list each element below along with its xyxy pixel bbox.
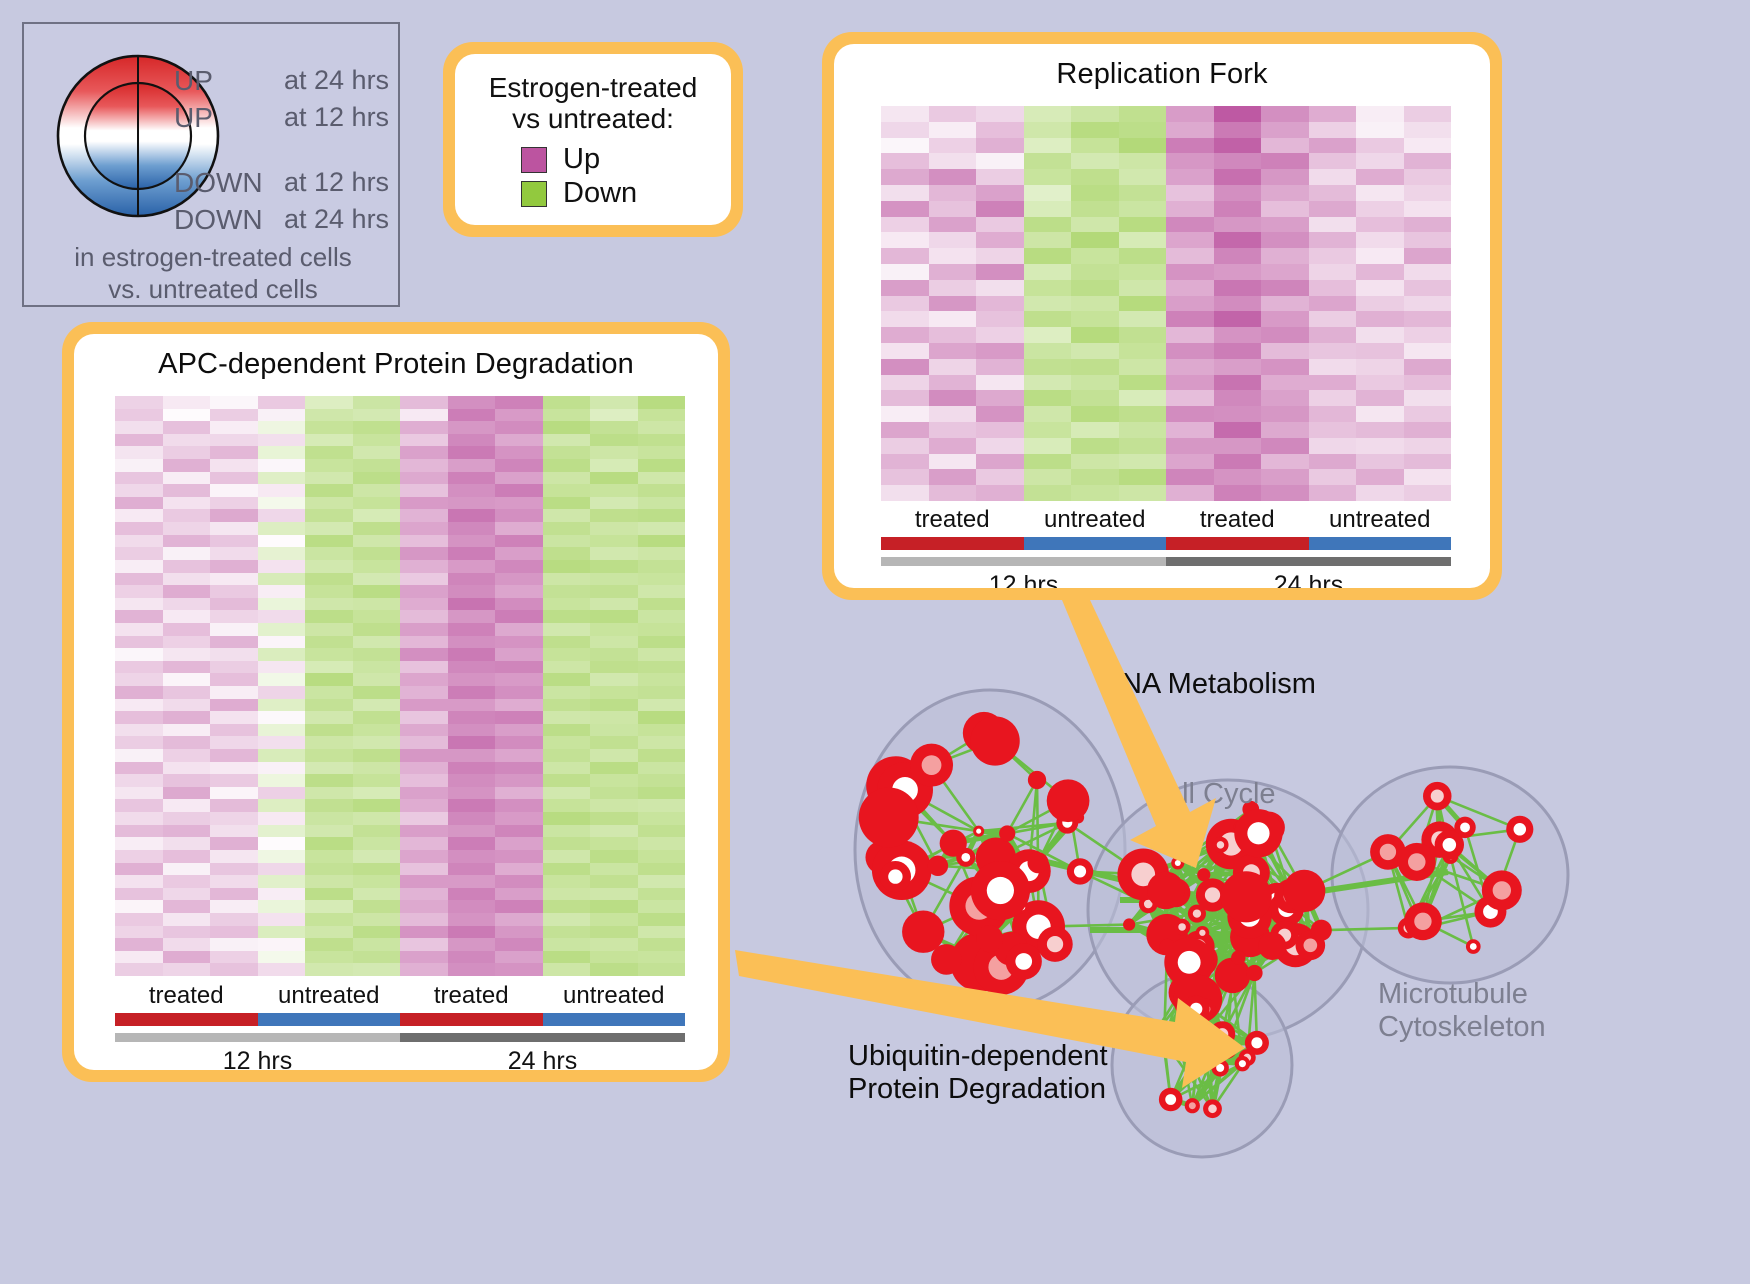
heatmap-cell: [543, 421, 591, 434]
down-label: Down: [563, 177, 637, 210]
heatmap-cell: [638, 837, 686, 850]
heatmap-cell: [1119, 390, 1167, 406]
cluster-label-ubiquitin-degradation: Ubiquitin-dependent Protein Degradation: [848, 1040, 1108, 1107]
heatmap-cell: [543, 686, 591, 699]
up-swatch-icon: [521, 147, 547, 173]
heatmap-cell: [448, 837, 496, 850]
heatmap-cell: [881, 438, 929, 454]
heatmap-cell: [353, 900, 401, 913]
heatmap-cell: [638, 749, 686, 762]
heatmap-cell: [929, 390, 977, 406]
heatmap-cell: [1309, 153, 1357, 169]
heatmap-cell: [543, 799, 591, 812]
heatmap-cell: [163, 434, 211, 447]
heatmap-cell: [543, 673, 591, 686]
heatmap-cell: [1166, 454, 1214, 470]
heatmap-cell: [495, 648, 543, 661]
heatmap-cell: [881, 122, 929, 138]
heatmap-cell: [353, 648, 401, 661]
heatmap-cell: [115, 484, 163, 497]
heatmap-cell: [1214, 390, 1262, 406]
network-node[interactable]: [999, 825, 1015, 841]
network-node[interactable]: [1221, 871, 1272, 922]
heatmap-cell: [1309, 248, 1357, 264]
heatmap-cell: [976, 248, 1024, 264]
heatmap-cell: [590, 610, 638, 623]
heatmap-cell: [1404, 375, 1452, 391]
heatmap-cell: [305, 547, 353, 560]
heatmap-cell: [495, 610, 543, 623]
heatmap-cell: [305, 724, 353, 737]
heatmap-cell: [1261, 201, 1309, 217]
heatmap-cell: [163, 850, 211, 863]
heatmap-cell: [1166, 248, 1214, 264]
heatmap-cell: [305, 736, 353, 749]
heatmap-cell: [543, 900, 591, 913]
network-node[interactable]: [976, 925, 1003, 952]
heatmap-cell: [115, 472, 163, 485]
heatmap-cell: [305, 799, 353, 812]
heatmap-cell: [305, 774, 353, 787]
heatmap-cell: [305, 396, 353, 409]
cluster-label-microtubule-cytoskeleton: Microtubule Cytoskeleton: [1378, 978, 1546, 1045]
heatmap-cell: [448, 825, 496, 838]
heatmap-cell: [1356, 375, 1404, 391]
heatmap-cell: [881, 406, 929, 422]
heatmap-cell: [400, 787, 448, 800]
heatmap-cell: [1024, 280, 1072, 296]
heatmap-cell: [353, 787, 401, 800]
heatmap-cell: [448, 484, 496, 497]
heatmap-cell: [1024, 201, 1072, 217]
heatmap-cell: [400, 900, 448, 913]
heatmap-cell: [400, 762, 448, 775]
heatmap-cell: [163, 573, 211, 586]
network-node-core: [1174, 1028, 1182, 1036]
heatmap-cell: [210, 547, 258, 560]
updown-key-row-down: Down: [521, 177, 731, 211]
heatmap-cell: [1024, 106, 1072, 122]
heatmap-cell: [638, 875, 686, 888]
heatmap-cell: [305, 825, 353, 838]
heatmap-cell: [543, 484, 591, 497]
heatmap-cell: [163, 774, 211, 787]
heatmap-cell: [590, 547, 638, 560]
heatmap-cell: [400, 573, 448, 586]
heatmap-cell: [448, 636, 496, 649]
heatmap-cell: [163, 446, 211, 459]
heatmap-cell: [1356, 438, 1404, 454]
heatmap-cell: [929, 406, 977, 422]
heatmap-cell: [115, 636, 163, 649]
heatmap-cell: [1214, 201, 1262, 217]
network-node-core: [1194, 1056, 1201, 1063]
heatmap-cell: [115, 421, 163, 434]
heatmap-cell: [353, 938, 401, 951]
heatmap-cell: [638, 888, 686, 901]
heatmap-cell: [115, 875, 163, 888]
heatmap-cell: [1261, 122, 1309, 138]
condition-label: untreated: [1309, 506, 1452, 534]
heatmap-cell: [400, 535, 448, 548]
heatmap-cell: [1166, 327, 1214, 343]
heatmap-cell: [1356, 153, 1404, 169]
heatmap-cell: [210, 573, 258, 586]
heatmap-cell: [400, 421, 448, 434]
heatmap-cell: [976, 153, 1024, 169]
heatmap-cell: [1356, 185, 1404, 201]
heatmap-cell: [258, 484, 306, 497]
heatmap-cell: [305, 522, 353, 535]
heatmap-cell: [210, 736, 258, 749]
heatmap-cell: [881, 248, 929, 264]
network-node-core: [1189, 1102, 1196, 1109]
heatmap-cell: [353, 686, 401, 699]
heatmap-cell: [495, 850, 543, 863]
heatmap-cell: [115, 509, 163, 522]
heatmap-cell: [163, 699, 211, 712]
heatmap-cell: [353, 711, 401, 724]
heatmap-cell: [1309, 406, 1357, 422]
heatmap-cell: [881, 217, 929, 233]
heatmap-cell: [1404, 469, 1452, 485]
heatmap-cell: [448, 421, 496, 434]
heatmap-cell: [210, 421, 258, 434]
heatmap-cell: [543, 888, 591, 901]
heatmap-cell: [929, 138, 977, 154]
heatmap-cell: [210, 888, 258, 901]
heatmap-cell: [258, 938, 306, 951]
heatmap-cell: [495, 799, 543, 812]
network-node[interactable]: [931, 944, 962, 975]
heatmap-cell: [1404, 390, 1452, 406]
heatmap-cell: [1404, 454, 1452, 470]
network-node[interactable]: [1283, 870, 1325, 912]
heatmap-cell: [590, 749, 638, 762]
heatmap-cell: [448, 774, 496, 787]
network-node-core: [1190, 1003, 1202, 1015]
heatmap-cell: [638, 636, 686, 649]
heatmap-cell: [1166, 375, 1214, 391]
heatmap-cell: [258, 699, 306, 712]
heatmap-cell: [258, 560, 306, 573]
network-node-core: [1251, 1037, 1262, 1048]
heatmap-cell: [638, 648, 686, 661]
heatmap-cell: [400, 636, 448, 649]
network-node[interactable]: [970, 716, 1019, 765]
heatmap-cell: [638, 446, 686, 459]
heatmap-cell: [353, 409, 401, 422]
heatmap-cell: [590, 673, 638, 686]
heatmap-cell: [1309, 122, 1357, 138]
network-node[interactable]: [1215, 958, 1251, 994]
heatmap-cell: [353, 749, 401, 762]
heatmap-cell: [305, 963, 353, 976]
heatmap-cell: [305, 673, 353, 686]
heatmap-cell: [163, 484, 211, 497]
heatmap-cell: [1166, 469, 1214, 485]
heatmap-cell: [1166, 280, 1214, 296]
network-node-core: [1199, 930, 1205, 936]
heatmap-cell: [638, 421, 686, 434]
heatmap-cell: [258, 724, 306, 737]
heatmap-cell: [1214, 311, 1262, 327]
heatmap-cell: [163, 900, 211, 913]
heatmap-cell: [590, 863, 638, 876]
condition-label: untreated: [258, 982, 401, 1010]
heatmap-cell: [1309, 232, 1357, 248]
heatmap-cell: [1261, 343, 1309, 359]
heatmap-cell: [115, 598, 163, 611]
heatmap-cell: [448, 560, 496, 573]
heatmap-cell: [590, 484, 638, 497]
colormap-legend-labels: UP at 24 hrs UP at 12 hrs DOWN at 12 hrs…: [174, 62, 404, 238]
heatmap-cell: [305, 938, 353, 951]
heatmap-cell: [115, 913, 163, 926]
heatmap-cell: [400, 963, 448, 976]
heatmap-cell: [1024, 296, 1072, 312]
heatmap-cell: [1166, 217, 1214, 233]
heatmap-cell: [1024, 311, 1072, 327]
heatmap-cell: [590, 648, 638, 661]
heatmap-cell: [400, 484, 448, 497]
heatmap-cell: [163, 762, 211, 775]
heatmap-cell: [163, 711, 211, 724]
heatmap-cell: [976, 422, 1024, 438]
heatmap-cell: [210, 484, 258, 497]
heatmap-cell: [115, 409, 163, 422]
heatmap-cell: [210, 774, 258, 787]
heatmap-cell: [448, 610, 496, 623]
timepoint-label: 24 hrs: [1166, 571, 1451, 588]
heatmap-cell: [210, 673, 258, 686]
network-node[interactable]: [1028, 771, 1046, 789]
heatmap-cell: [543, 762, 591, 775]
heatmap-cell: [305, 497, 353, 510]
heatmap-cell: [1024, 422, 1072, 438]
microtubule-line1: Microtubule: [1378, 978, 1546, 1011]
heatmap-cell: [638, 787, 686, 800]
cluster-label-dna-metabolism: DNA Metabolism: [1100, 668, 1316, 701]
heatmap-cell: [1214, 375, 1262, 391]
heatmap-cell: [400, 446, 448, 459]
heatmap-cell: [1166, 422, 1214, 438]
network-node-core: [1192, 1035, 1204, 1047]
heatmap-cell: [1356, 390, 1404, 406]
heatmap-cell: [258, 888, 306, 901]
heatmap-cell: [305, 598, 353, 611]
heatmap-cell: [353, 623, 401, 636]
cluster-label-cell-cycle: Cell Cycle: [1145, 778, 1276, 811]
network-node-core: [1208, 1104, 1217, 1113]
heatmap-cell: [1356, 138, 1404, 154]
heatmap-cell: [1404, 153, 1452, 169]
network-node[interactable]: [1258, 932, 1286, 960]
heatmap-cell: [448, 573, 496, 586]
colormap-legend-row: UP at 24 hrs: [174, 62, 404, 99]
heatmap-cell: [1261, 422, 1309, 438]
heatmap-cell: [495, 560, 543, 573]
heatmap-cell: [163, 799, 211, 812]
heatmap-cell: [881, 169, 929, 185]
network-node[interactable]: [1216, 1037, 1238, 1059]
heatmap-cell: [448, 598, 496, 611]
heatmap-cell: [495, 459, 543, 472]
heatmap-cell: [881, 201, 929, 217]
heatmap-cell: [495, 598, 543, 611]
heatmap-cell: [1261, 185, 1309, 201]
heatmap-cell: [1356, 454, 1404, 470]
heatmap-cell: [1119, 280, 1167, 296]
heatmap-cell: [1309, 327, 1357, 343]
heatmap-cell: [1119, 375, 1167, 391]
heatmap-cell: [590, 888, 638, 901]
network-node[interactable]: [1147, 872, 1185, 910]
heatmap-cell: [400, 724, 448, 737]
heatmap-cell: [210, 446, 258, 459]
heatmap-cell: [976, 438, 1024, 454]
heatmap-cell: [543, 825, 591, 838]
heatmap-cell: [976, 217, 1024, 233]
heatmap-cell: [976, 106, 1024, 122]
heatmap-cell: [353, 888, 401, 901]
network-node-core: [1047, 936, 1063, 952]
heatmap-cell: [590, 837, 638, 850]
heatmap-cell: [495, 434, 543, 447]
heatmap-cell: [1309, 185, 1357, 201]
heatmap-cell: [305, 686, 353, 699]
heatmap-cell: [543, 699, 591, 712]
heatmap-cell: [210, 812, 258, 825]
heatmap-cell: [590, 409, 638, 422]
heatmap-cell: [1071, 469, 1119, 485]
heatmap-cell: [305, 434, 353, 447]
heatmap-cell: [543, 736, 591, 749]
heatmap-cell: [590, 472, 638, 485]
heatmap-cell: [258, 799, 306, 812]
heatmap-cell: [210, 610, 258, 623]
condition-labels: treated untreated treated untreated: [115, 982, 685, 1010]
network-node-core: [976, 829, 981, 834]
network-node[interactable]: [1246, 965, 1262, 981]
heatmap-cell: [1119, 232, 1167, 248]
heatmap-cell: [305, 762, 353, 775]
heatmap-cell: [1166, 153, 1214, 169]
heatmap-cell: [305, 573, 353, 586]
heatmap-cell: [976, 169, 1024, 185]
replication-fork-panel-inner: Replication Fork treated untreated treat…: [834, 44, 1490, 588]
heatmap-cell: [163, 623, 211, 636]
heatmap-cell: [1119, 327, 1167, 343]
heatmap-cell: [590, 421, 638, 434]
heatmap-cell: [210, 396, 258, 409]
heatmap-cell: [1071, 232, 1119, 248]
heatmap-cell: [1214, 264, 1262, 280]
heatmap-cell: [495, 736, 543, 749]
heatmap-cell: [1214, 343, 1262, 359]
heatmap-cell: [1356, 359, 1404, 375]
heatmap-cell: [1261, 485, 1309, 501]
network-node[interactable]: [1047, 779, 1090, 822]
network-node[interactable]: [1197, 868, 1210, 881]
heatmap-cell: [929, 311, 977, 327]
heatmap-cell: [1119, 469, 1167, 485]
heatmap-cell: [210, 787, 258, 800]
network-node[interactable]: [1123, 918, 1135, 930]
heatmap-cell: [590, 686, 638, 699]
network-node[interactable]: [859, 787, 919, 847]
heatmap-cell: [1119, 359, 1167, 375]
heatmap-cell: [1214, 280, 1262, 296]
network-node-core: [1443, 838, 1457, 852]
heatmap-cell: [448, 799, 496, 812]
heatmap-cell: [1166, 406, 1214, 422]
heatmap-cell: [448, 913, 496, 926]
network-node[interactable]: [928, 856, 949, 877]
heatmap-cell: [115, 724, 163, 737]
heatmap-cell: [163, 963, 211, 976]
heatmap-cell: [353, 484, 401, 497]
heatmap-cell: [1119, 485, 1167, 501]
heatmap-cell: [353, 497, 401, 510]
heatmap-cell: [258, 636, 306, 649]
heatmap-cell: [881, 296, 929, 312]
condition-label: untreated: [1024, 506, 1167, 534]
heatmap-cell: [163, 396, 211, 409]
heatmap-cell: [590, 535, 638, 548]
heatmap-cell: [400, 497, 448, 510]
heatmap-cell: [929, 375, 977, 391]
heatmap-cell: [1024, 438, 1072, 454]
heatmap-cell: [210, 472, 258, 485]
heatmap-cell: [115, 938, 163, 951]
heatmap-cell: [210, 900, 258, 913]
network-node[interactable]: [940, 830, 967, 857]
network-node[interactable]: [1027, 852, 1048, 873]
heatmap-cell: [400, 749, 448, 762]
heatmap-cell: [543, 547, 591, 560]
heatmap-cell: [1404, 232, 1452, 248]
heatmap-cell: [638, 850, 686, 863]
heatmap-cell: [638, 573, 686, 586]
heatmap-cell: [1024, 248, 1072, 264]
heatmap-cell: [495, 484, 543, 497]
heatmap-cell: [1404, 343, 1452, 359]
heatmap-cell: [1214, 106, 1262, 122]
heatmap-cell: [881, 327, 929, 343]
network-node-core: [1431, 790, 1444, 803]
heatmap-cell: [1024, 232, 1072, 248]
heatmap-cell: [353, 509, 401, 522]
network-node[interactable]: [1231, 950, 1245, 964]
heatmap-cell: [1356, 469, 1404, 485]
heatmap-cell: [210, 509, 258, 522]
heatmap-cell: [1356, 169, 1404, 185]
timepoint-labels: 12 hrs 24 hrs: [881, 571, 1451, 588]
network-node-core: [961, 853, 970, 862]
heatmap-cell: [163, 636, 211, 649]
heatmap-cell: [1404, 485, 1452, 501]
heatmap-cell: [495, 863, 543, 876]
heatmap-cell: [638, 585, 686, 598]
heatmap-cell: [1024, 264, 1072, 280]
heatmap-cell: [495, 724, 543, 737]
heatmap-cell: [448, 673, 496, 686]
condition-bar-untreated-24: [543, 1013, 686, 1026]
heatmap-cell: [929, 201, 977, 217]
heatmap-cell: [495, 623, 543, 636]
network-node[interactable]: [1311, 920, 1332, 941]
